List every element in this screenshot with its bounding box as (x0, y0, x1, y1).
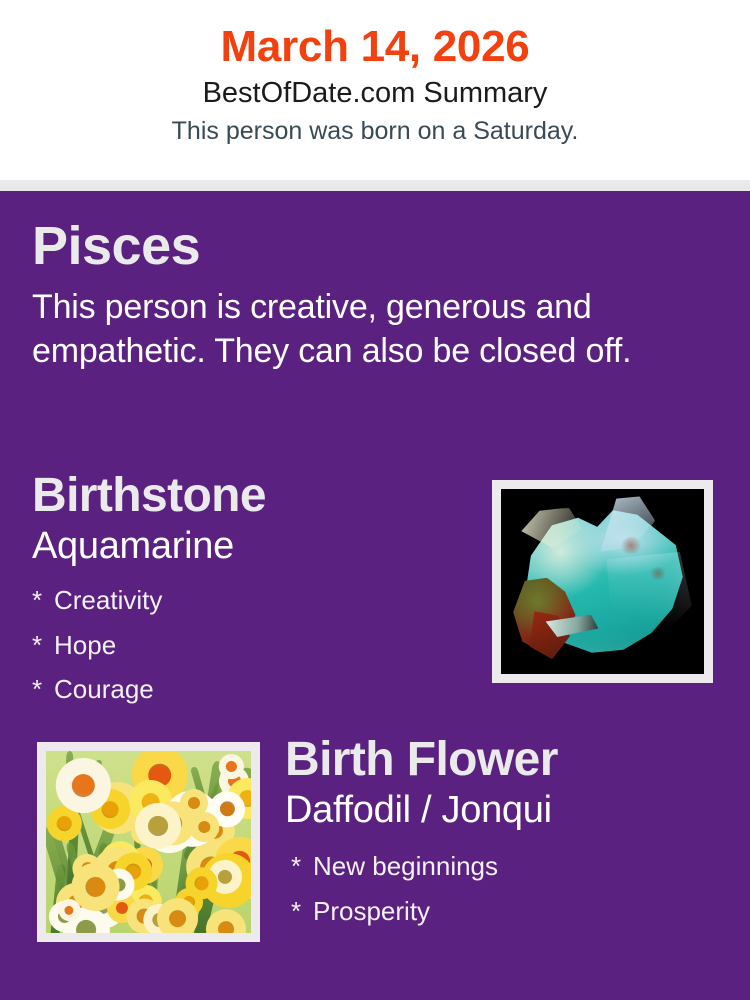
birth-flower-name: Daffodil / Jonqui (285, 790, 735, 832)
daffodil-corona (84, 875, 108, 899)
birthday-summary-card: March 14, 2026 BestOfDate.com Summary Th… (0, 0, 750, 1000)
daffodil-corona (192, 874, 211, 893)
daffodil-corona (165, 906, 189, 930)
birthstone-trait-label: Hope (54, 630, 116, 660)
birth-flower-section: Birth Flower Daffodil / Jonqui *New begi… (285, 736, 735, 949)
daffodil-corona (216, 920, 235, 933)
zodiac-description: This person is creative, generous and em… (32, 285, 712, 373)
list-item: *Creativity (32, 578, 472, 623)
header-born-day-note: This person was born on a Saturday. (0, 115, 750, 148)
bullet-star-icon: * (32, 667, 54, 712)
birthstone-title: Birthstone (32, 472, 472, 520)
birth-flower-image-frame (37, 742, 260, 942)
birthstone-trait-label: Creativity (54, 585, 162, 615)
header-site-summary: BestOfDate.com Summary (0, 75, 750, 111)
daffodil-corona (145, 813, 171, 839)
crystal-inclusion-speck (619, 537, 643, 554)
list-item: *Prosperity (291, 889, 735, 934)
daffodil-corona (216, 868, 234, 886)
birth-flower-title: Birth Flower (285, 736, 735, 784)
bullet-star-icon: * (32, 623, 54, 668)
daffodil-corona (224, 759, 239, 774)
bullet-star-icon: * (291, 844, 313, 889)
zodiac-section: Pisces This person is creative, generous… (32, 219, 722, 373)
birth-flower-trait-list: *New beginnings *Prosperity (285, 844, 735, 933)
birthstone-trait-label: Courage (54, 674, 154, 704)
birth-flower-trait-label: Prosperity (313, 896, 430, 926)
daffodil-field-image (46, 751, 251, 933)
daffodil-corona (218, 801, 236, 819)
zodiac-sign-name: Pisces (32, 219, 722, 273)
daffodil-corona (54, 813, 74, 833)
header-divider (0, 180, 750, 191)
birthstone-image-frame (492, 480, 713, 683)
birth-flower-trait-label: New beginnings (313, 851, 498, 881)
birthstone-name: Aquamarine (32, 526, 472, 568)
card-header: March 14, 2026 BestOfDate.com Summary Th… (0, 0, 750, 180)
list-item: *Hope (32, 623, 472, 668)
daffodil-corona (67, 769, 99, 801)
bullet-star-icon: * (32, 578, 54, 623)
daffodil-corona (197, 821, 211, 835)
crystal-inclusion-speck (649, 567, 667, 580)
birthstone-trait-list: *Creativity *Hope *Courage (32, 578, 472, 712)
aquamarine-crystal-image (501, 489, 704, 674)
list-item: *New beginnings (291, 844, 735, 889)
daffodil-corona (63, 904, 76, 917)
card-body: Pisces This person is creative, generous… (0, 191, 750, 1000)
header-date: March 14, 2026 (0, 22, 750, 71)
bullet-star-icon: * (291, 889, 313, 934)
list-item: *Courage (32, 667, 472, 712)
birthstone-section: Birthstone Aquamarine *Creativity *Hope … (32, 472, 472, 728)
